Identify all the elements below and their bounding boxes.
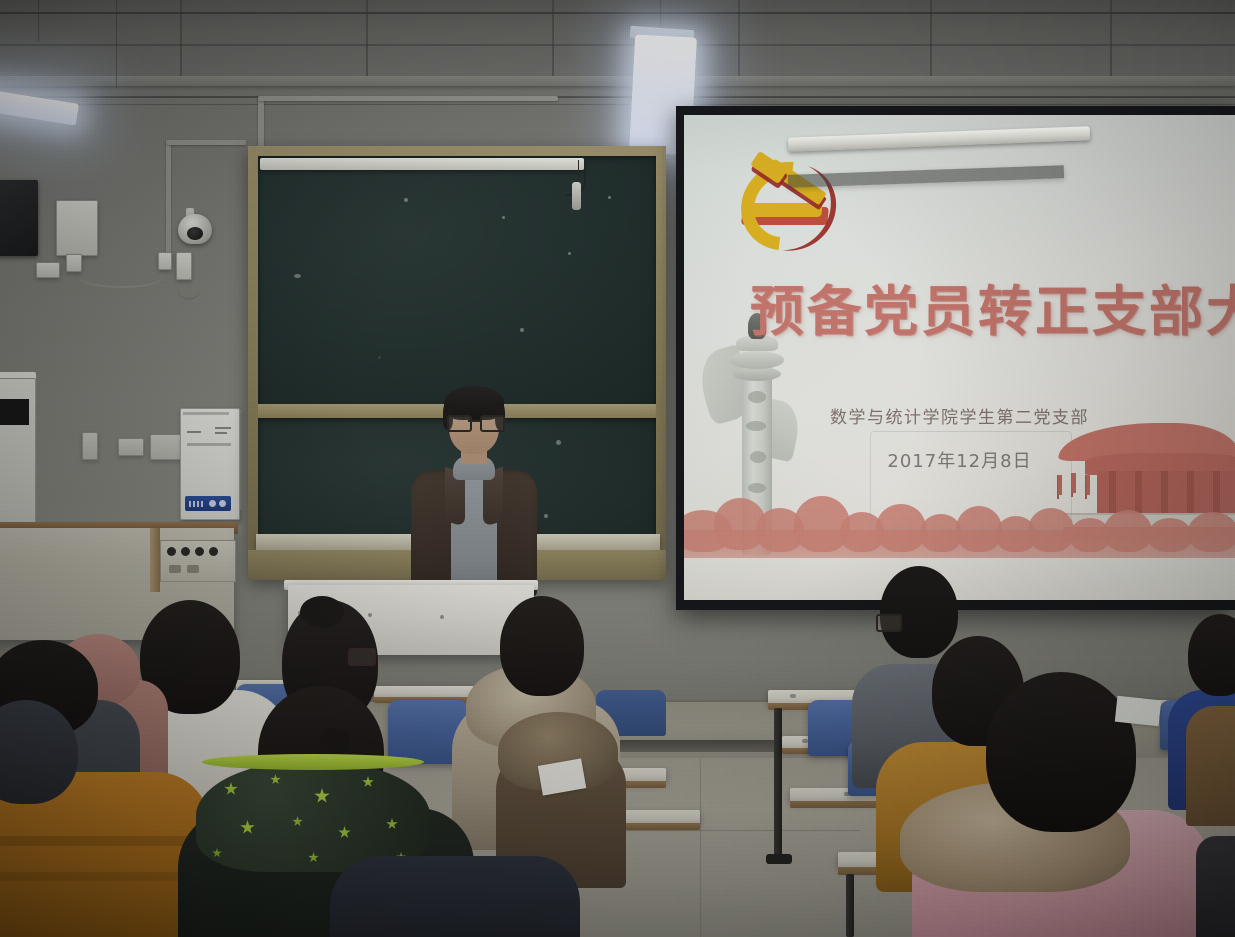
dome-security-camera bbox=[178, 214, 212, 244]
microphone-hanger bbox=[578, 160, 579, 182]
hanging-microphone bbox=[572, 182, 581, 210]
wall-outlet bbox=[36, 262, 60, 278]
attendee-glasses bbox=[876, 614, 902, 632]
projected-slide: 预备党员转正支部大会 数学与统计学院学生第二党支部 2017年12月8日 bbox=[684, 115, 1235, 600]
attendee-brown-fur-collar bbox=[1186, 706, 1235, 826]
ceiling-seam bbox=[930, 0, 932, 78]
ceiling-seam bbox=[180, 0, 182, 78]
camera-lens bbox=[187, 227, 203, 240]
slide-date: 2017年12月8日 bbox=[684, 447, 1235, 473]
attendee-head bbox=[500, 596, 584, 696]
ceiling-seam bbox=[552, 0, 554, 78]
wall-control-panel[interactable] bbox=[180, 408, 240, 520]
white-cabinet bbox=[0, 378, 36, 530]
presenter-at-lectern bbox=[405, 382, 541, 597]
wall-speaker-box bbox=[0, 180, 38, 256]
wall-conduit bbox=[166, 140, 246, 145]
wall-cable bbox=[0, 104, 1235, 105]
attendee-navy-coat bbox=[330, 856, 580, 937]
hood-neon-trim bbox=[202, 754, 424, 770]
wall-label bbox=[150, 434, 182, 460]
console-bracket bbox=[150, 528, 160, 592]
chalkboard-upper-panel bbox=[258, 156, 656, 406]
presenter-glasses bbox=[447, 415, 501, 428]
wall-conduit bbox=[258, 96, 558, 101]
ceiling-seam bbox=[1110, 0, 1112, 78]
ceiling-seam bbox=[0, 12, 1235, 14]
lamp-hanger bbox=[660, 0, 661, 30]
ceiling-seam bbox=[366, 0, 368, 78]
slide-bottom-band bbox=[684, 558, 1235, 600]
slide-subtitle: 数学与统计学院学生第二党支部 bbox=[684, 403, 1235, 428]
chalkboard-lamp bbox=[260, 158, 584, 170]
wall-switch bbox=[82, 432, 98, 460]
wall-outlet bbox=[158, 252, 172, 270]
wall-cable bbox=[0, 96, 1235, 98]
lamp-hanger bbox=[116, 0, 117, 88]
classroom-photo: 预备党员转正支部大会 数学与统计学院学生第二党支部 2017年12月8日 bbox=[0, 0, 1235, 937]
wall-conduit bbox=[166, 140, 171, 260]
console-control-panel[interactable] bbox=[160, 540, 236, 582]
attendee-dark-coat bbox=[1196, 836, 1235, 937]
attendee-head bbox=[986, 672, 1136, 832]
paper-sheet bbox=[1115, 696, 1161, 726]
lamp-hanger bbox=[38, 0, 39, 42]
wall-cornice bbox=[0, 76, 1235, 86]
slide-text-box bbox=[870, 431, 1072, 529]
attendee-glasses bbox=[348, 648, 376, 666]
panel-brand-strip bbox=[185, 496, 231, 511]
ceiling-seam bbox=[0, 44, 1235, 46]
wall-cable bbox=[176, 272, 202, 300]
wall-cable bbox=[78, 264, 164, 288]
attendee-head bbox=[880, 566, 958, 658]
slide-title: 预备党员转正支部大会 bbox=[750, 267, 1235, 346]
cabinet-slot bbox=[0, 399, 29, 425]
wall-junction-box bbox=[56, 200, 98, 256]
wall-outlet bbox=[66, 254, 82, 272]
panel-top-bar bbox=[183, 412, 229, 415]
wall-label bbox=[118, 438, 144, 456]
ceiling-seam bbox=[738, 0, 740, 78]
